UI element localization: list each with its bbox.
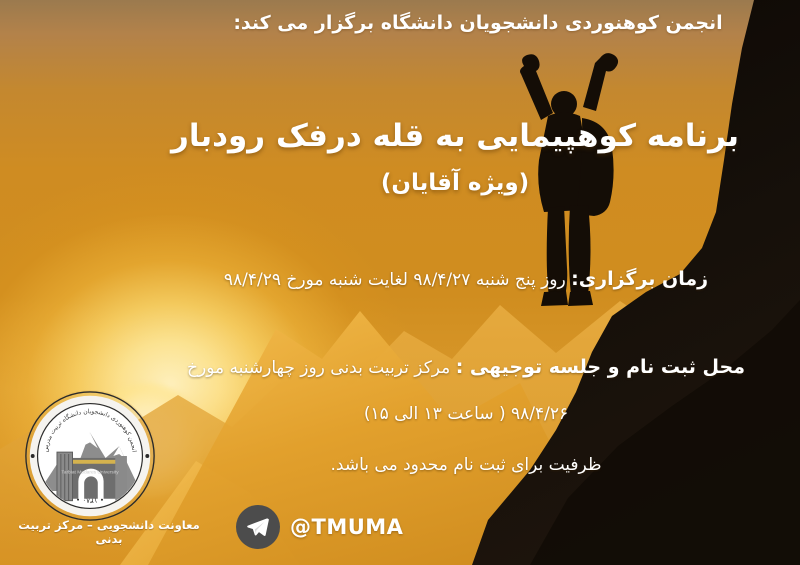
registration-place-line: محل ثبت نام و جلسه توجیهی : مرکز تربیت ب… [150,356,782,378]
event-date-value: روز پنج شنبه ۹۸/۴/۲۷ لغایت شنبه مورخ ۹۸/… [224,270,566,290]
logo-inner-text: Tarbiat Modares University [61,469,119,475]
telegram-icon[interactable] [236,505,280,549]
event-poster: انجمن کوهنوردی دانشجویان دانشگاه برگزار … [0,0,800,565]
telegram-handle[interactable]: @TMUMA [290,515,403,539]
registration-place-value: مرکز تربیت بدنی روز چهارشنبه مورخ [187,358,450,378]
telegram-contact[interactable]: @TMUMA [236,505,403,549]
page-subtitle: (ویژه آقایان) [150,170,760,196]
footer-caption: معاونت دانشجویی – مرکز تربیت بدنی [4,518,214,546]
capacity-note: ظرفیت برای ثبت نام محدود می باشد. [150,455,782,475]
page-headline: انجمن کوهنوردی دانشجویان دانشگاه برگزار … [180,12,776,34]
registration-time-line: ۹۸/۴/۲۶ ( ساعت ۱۳ الی ۱۵) [150,404,782,424]
page-title: برنامه کوهپیمایی به قله درفک رودبار [150,118,760,154]
university-logo: Tarbiat Modares University انجمن کوهنورد… [22,388,158,524]
event-date-line: زمان برگزاری: روز پنج شنبه ۹۸/۴/۲۷ لغایت… [150,268,782,290]
event-date-label: زمان برگزاری: [571,268,708,290]
registration-place-label: محل ثبت نام و جلسه توجیهی : [456,356,745,378]
